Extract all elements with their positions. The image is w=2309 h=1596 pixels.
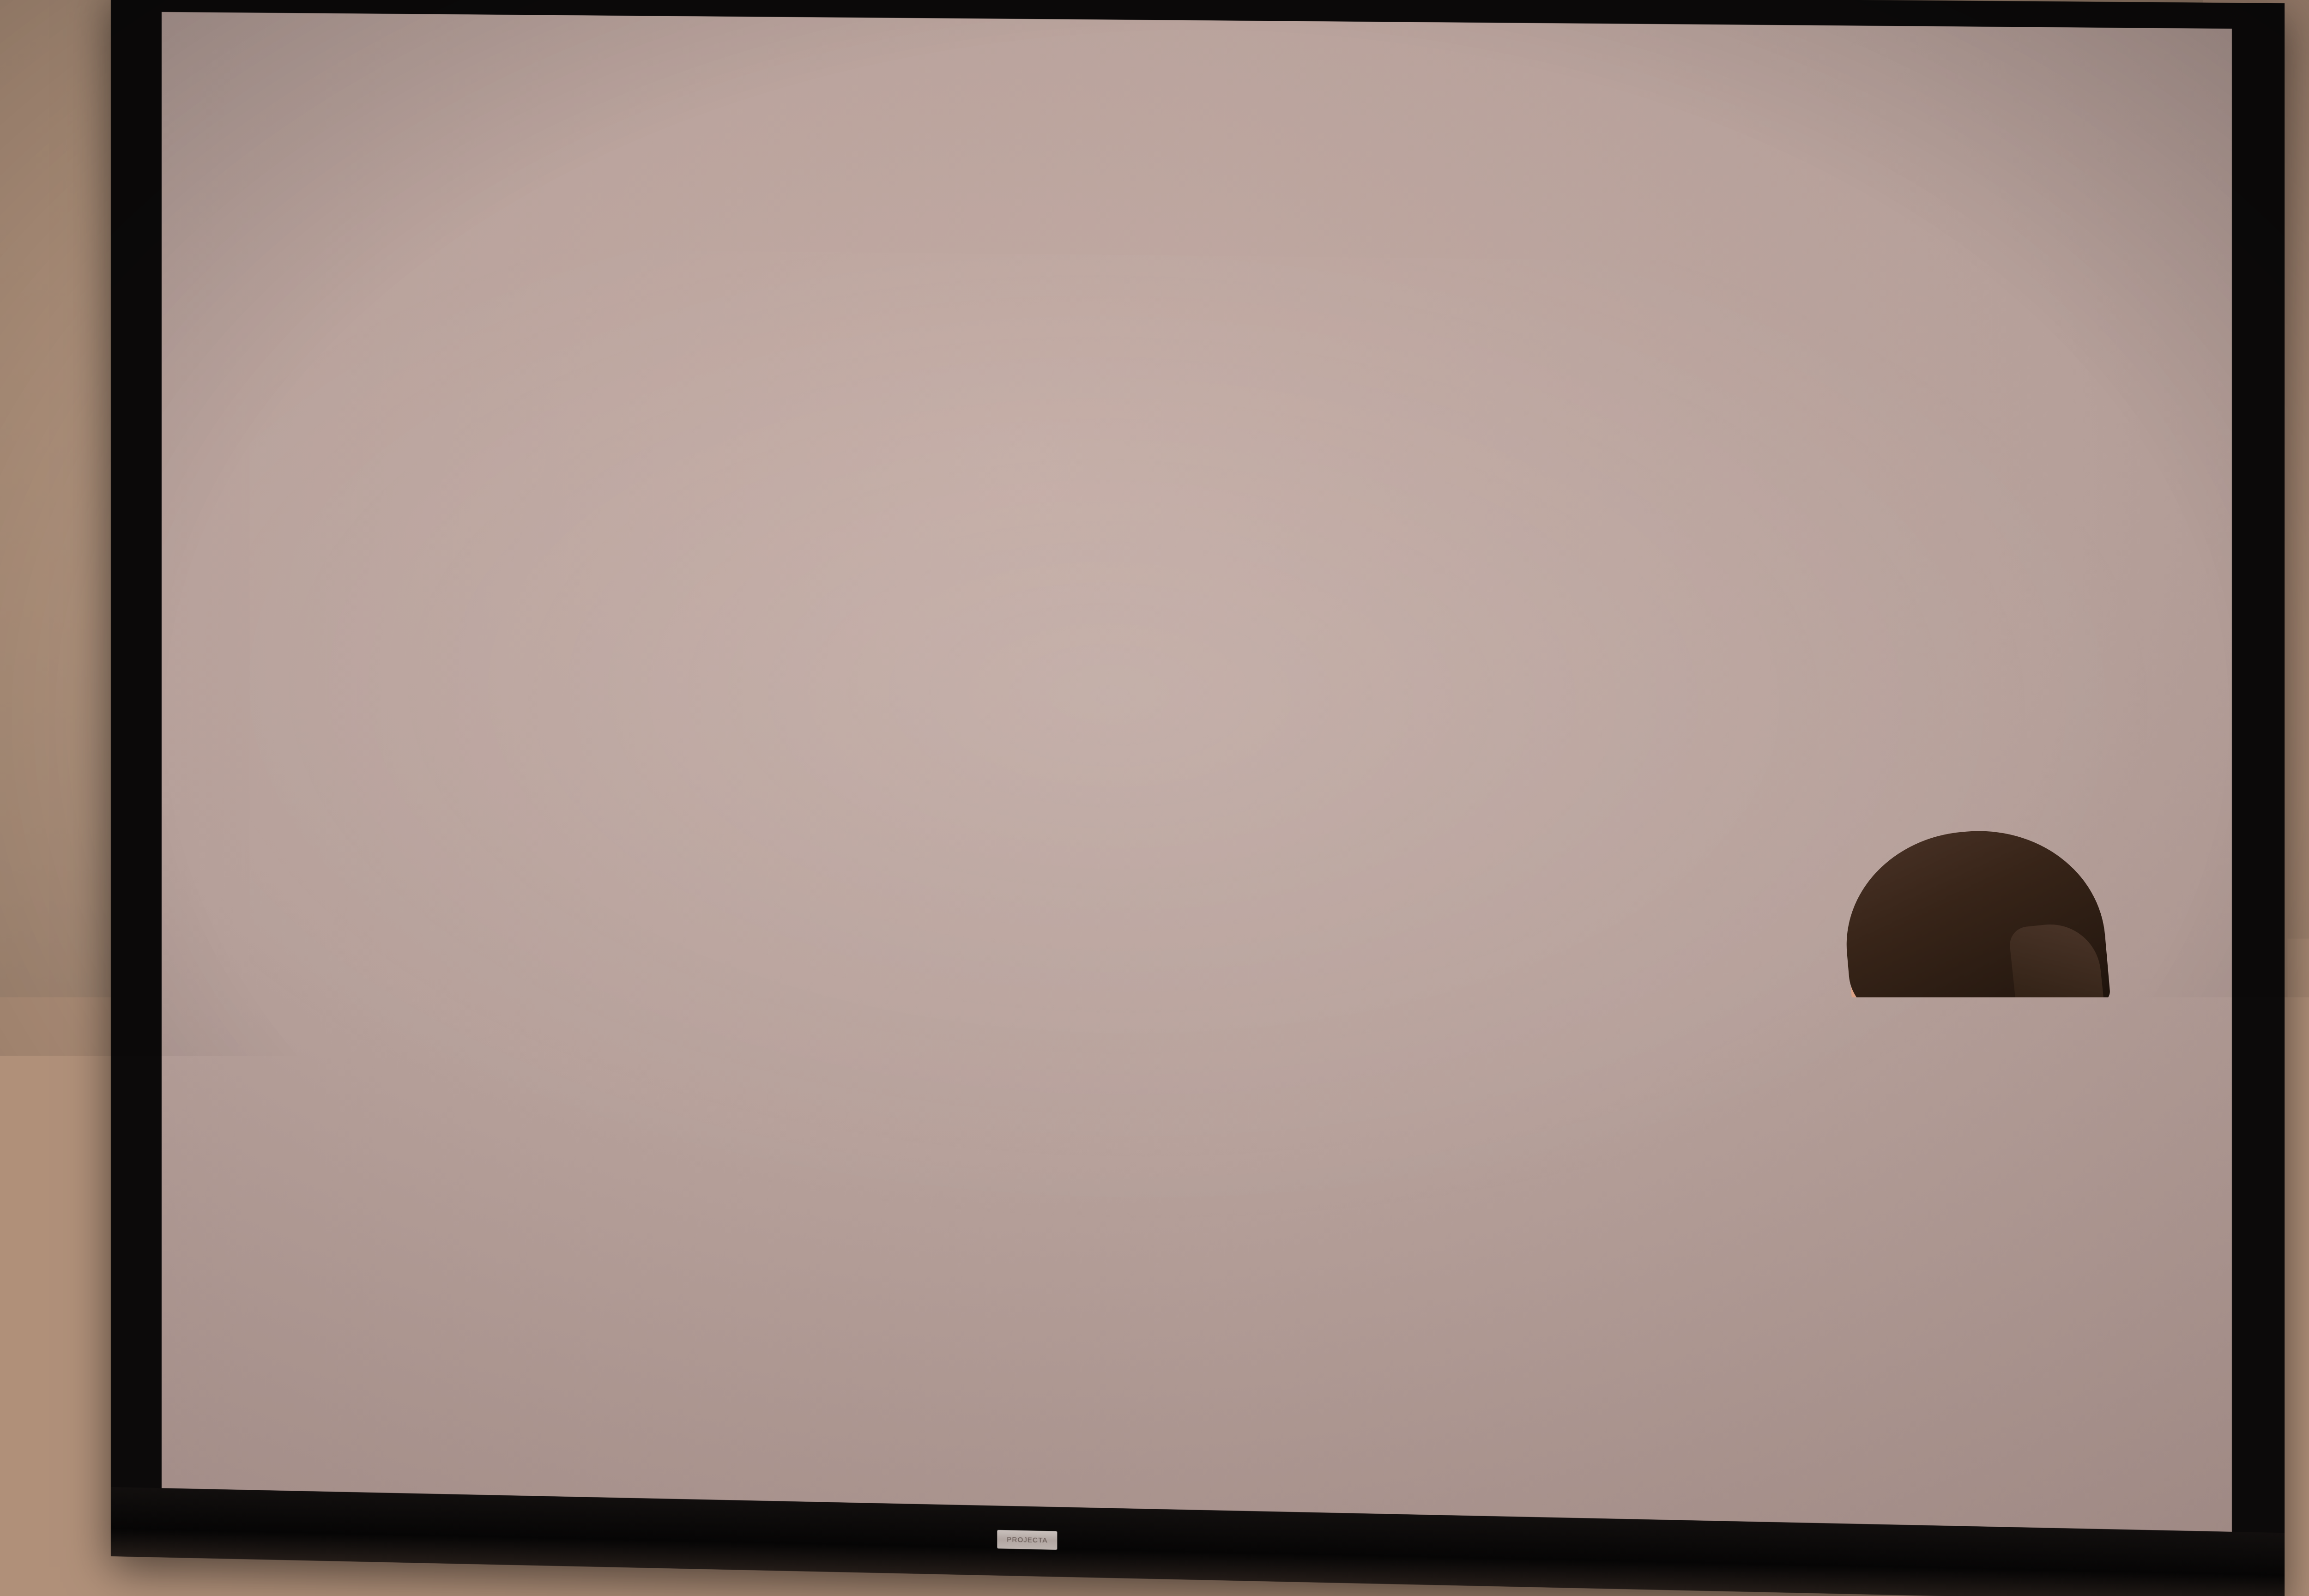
sulfur-atom-bottom: S xyxy=(1031,967,1047,995)
equilibrium-arrow-reverse-1 xyxy=(835,979,929,983)
excited-state-star: * xyxy=(805,891,813,912)
sulfur-atom-top: S xyxy=(679,898,695,925)
thumb-over-badge xyxy=(1920,1325,1976,1428)
excited-state-bracket xyxy=(750,884,802,946)
raft-process-label: RAFT Process xyxy=(1176,985,1335,1016)
sulfur-atom-bottom: S xyxy=(417,949,432,977)
left-hand xyxy=(1633,1333,1771,1489)
substituent-r: R xyxy=(459,943,475,968)
presenter-person: UNIVERSITY OF MARYLAND Matthew ARCS Depa… xyxy=(1575,827,2267,1596)
substituent-r-prime: R' xyxy=(940,958,961,985)
slide-title: Elucidating the Mechanism of Photo-RAFT … xyxy=(296,379,2124,576)
sulfur-atom-top: S xyxy=(380,889,396,916)
substituent-r-prime: R' xyxy=(625,949,646,975)
university-seal-icon xyxy=(1901,1298,1925,1322)
sulfur-atom-top: S xyxy=(994,907,1010,934)
species-thiyl-radical: S R' S • xyxy=(951,908,1060,995)
screen-brand-badge: PROJECTA xyxy=(997,1530,1057,1550)
species-excited-raft-agent: S R' S R xyxy=(635,899,743,986)
radical-dot: • xyxy=(1062,967,1069,989)
photolysis-arrow xyxy=(496,955,612,961)
substituent-r: R xyxy=(758,951,774,978)
right-hand xyxy=(1761,1324,1910,1489)
sulfur-atom-bottom: S xyxy=(715,958,731,985)
photolysis-label: hν xyxy=(528,923,549,946)
slide-authors: Matthew D. Thum Steven Wolf Daniel E. Fa… xyxy=(296,570,2124,770)
species-raft-agent: S R' S R xyxy=(338,891,444,977)
equilibrium-arrow-forward-1 xyxy=(835,955,929,960)
substituent-r-prime: R' xyxy=(327,940,348,966)
plus-sign-1: + xyxy=(1112,963,1125,990)
